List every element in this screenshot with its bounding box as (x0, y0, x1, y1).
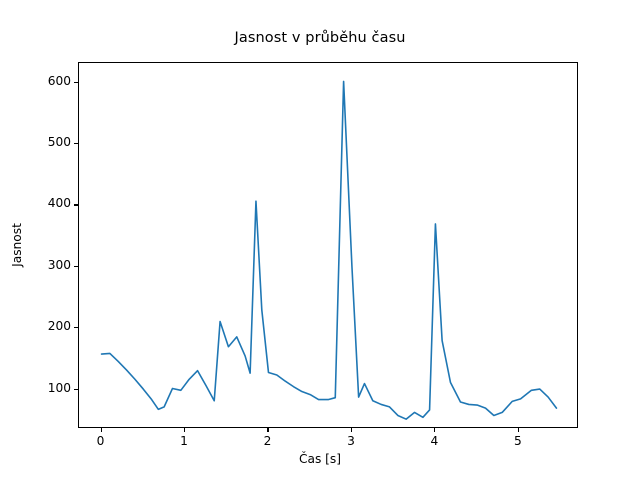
y-tick-label: 400 (48, 196, 71, 210)
figure-canvas: Jasnost v průběhu času Jasnost Čas [s] 1… (0, 0, 640, 480)
x-tick-label: 2 (247, 434, 287, 448)
y-axis-label: Jasnost (8, 62, 26, 428)
plot-area (78, 62, 578, 428)
data-series-line (102, 81, 557, 419)
y-tick-label: 600 (48, 74, 71, 88)
y-tick-label: 300 (48, 258, 71, 272)
x-tick-label: 0 (81, 434, 121, 448)
y-tick-label: 100 (48, 381, 71, 395)
data-line-svg (79, 63, 579, 429)
y-tick-label: 500 (48, 135, 71, 149)
x-axis-label: Čas [s] (0, 452, 640, 466)
chart-title: Jasnost v průběhu času (0, 30, 640, 46)
x-tick-label: 1 (164, 434, 204, 448)
x-tick-label: 4 (414, 434, 454, 448)
y-tick-label: 200 (48, 319, 71, 333)
x-tick-label: 5 (498, 434, 538, 448)
x-tick-label: 3 (331, 434, 371, 448)
